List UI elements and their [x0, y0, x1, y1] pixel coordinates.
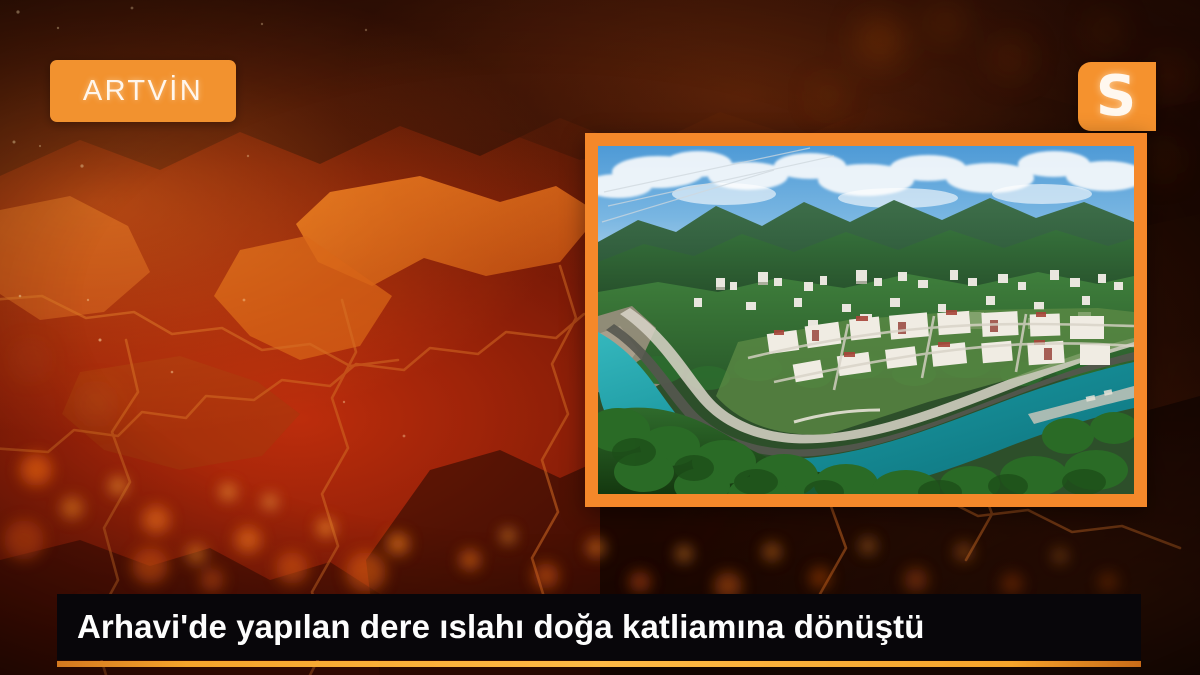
- headline-title: Arhavi'de yapılan dere ıslahı doğa katli…: [57, 608, 925, 646]
- brand-logo-letter: S: [1096, 69, 1136, 125]
- brand-logo[interactable]: S: [1078, 62, 1156, 131]
- province-badge[interactable]: ARTVİN: [50, 60, 236, 122]
- news-photo: [598, 146, 1134, 494]
- headline-bar: Arhavi'de yapılan dere ıslahı doğa katli…: [57, 594, 1141, 660]
- thumbnail-canvas: ARTVİN S: [0, 0, 1200, 675]
- province-badge-label: ARTVİN: [83, 75, 203, 108]
- news-photo-card[interactable]: [585, 133, 1147, 507]
- aerial-town-illustration: [598, 146, 1134, 494]
- headline-underline: [57, 661, 1141, 667]
